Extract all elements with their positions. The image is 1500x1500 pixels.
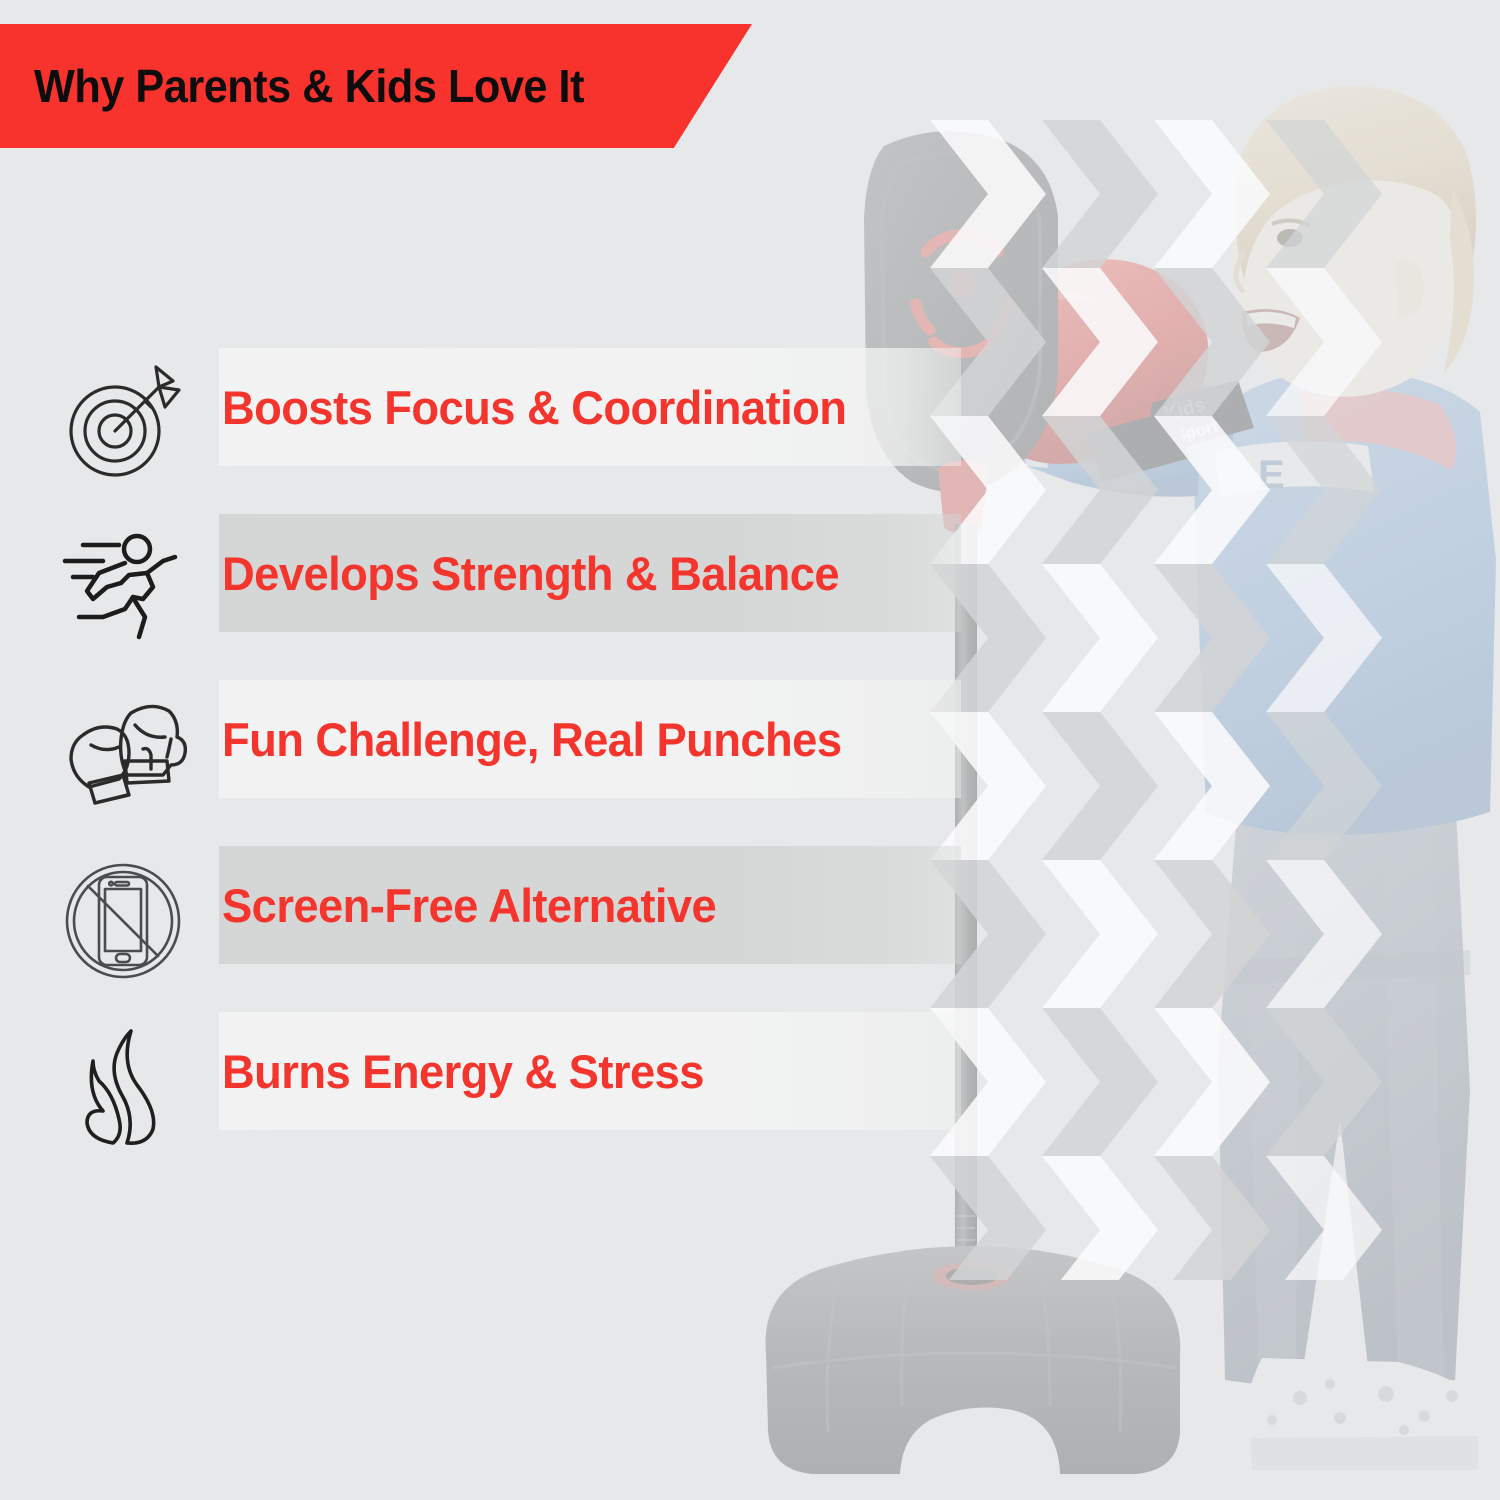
- stand-base: [765, 1246, 1180, 1474]
- svg-text:E: E: [1258, 453, 1285, 497]
- running-person-icon: [48, 514, 198, 664]
- feature-row: Boosts Focus & Coordination: [0, 340, 1000, 506]
- feature-label: Develops Strength & Balance: [222, 514, 839, 632]
- feature-row: Screen-Free Alternative: [0, 838, 1000, 1004]
- target-arrow-icon: [48, 348, 198, 498]
- svg-text:Sport: Sport: [1172, 417, 1220, 446]
- infographic-canvas: E: [0, 0, 1500, 1500]
- boy-shoe: [1247, 1358, 1478, 1470]
- chevron-column-4: [1266, 120, 1382, 1280]
- boy-lower-body: [1218, 790, 1470, 1390]
- feature-label: Burns Energy & Stress: [222, 1012, 704, 1130]
- feature-label: Screen-Free Alternative: [222, 846, 716, 964]
- feature-label: Fun Challenge, Real Punches: [222, 680, 841, 798]
- chevron-column-2: [1042, 120, 1158, 1280]
- feature-label: Boosts Focus & Coordination: [222, 348, 846, 466]
- no-phone-icon: [48, 846, 198, 996]
- chevron-pattern-svg: [930, 80, 1500, 1280]
- page-title: Why Parents & Kids Love It: [34, 59, 584, 113]
- flame-icon: [48, 1012, 198, 1162]
- chevron-column-3: [1154, 120, 1270, 1280]
- header-banner: Why Parents & Kids Love It: [0, 24, 752, 148]
- pad-target-graphic: [916, 235, 1008, 353]
- chevron-pattern-background: [930, 80, 1500, 1280]
- feature-list: Boosts Focus & Coordination Develops Str: [0, 340, 1000, 1170]
- feature-row: Develops Strength & Balance: [0, 506, 1000, 672]
- feature-row: Burns Energy & Stress: [0, 1004, 1000, 1170]
- boy-head: [1232, 86, 1476, 397]
- feature-row: Fun Challenge, Real Punches: [0, 672, 1000, 838]
- boy-torso: E: [1016, 330, 1496, 835]
- svg-text:Kids: Kids: [1162, 395, 1207, 425]
- boxing-gloves-icon: [48, 680, 198, 830]
